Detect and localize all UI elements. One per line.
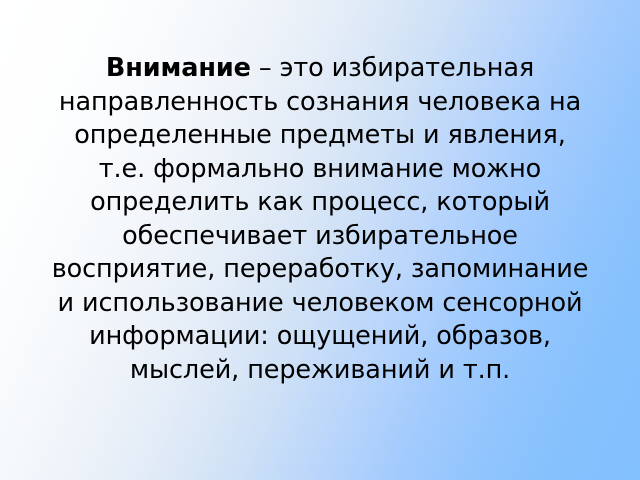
definition-line-8: и использование человеком сенсорной <box>30 287 610 321</box>
definition-line-5: определить как процесс, который <box>30 186 610 220</box>
definition-line-3: определенные предметы и явления, <box>30 119 610 153</box>
slide-canvas: Внимание – это избирательная направленно… <box>0 0 640 480</box>
definition-line-10: мыслей, переживаний и т.п. <box>30 354 610 388</box>
definition-line-6: обеспечивает избирательное <box>30 220 610 254</box>
definition-line-4: т.е. формально внимание можно <box>30 153 610 187</box>
definition-line-7: восприятие, переработку, запоминание <box>30 253 610 287</box>
definition-line-2: направленность сознания человека на <box>30 86 610 120</box>
definition-line-1: Внимание – это избирательная <box>30 52 610 86</box>
definition-text-block: Внимание – это избирательная направленно… <box>30 52 610 387</box>
definition-line-9: информации: ощущений, образов, <box>30 320 610 354</box>
lead-term: Внимание <box>106 53 251 83</box>
definition-line-1-rest: – это избирательная <box>251 53 534 83</box>
